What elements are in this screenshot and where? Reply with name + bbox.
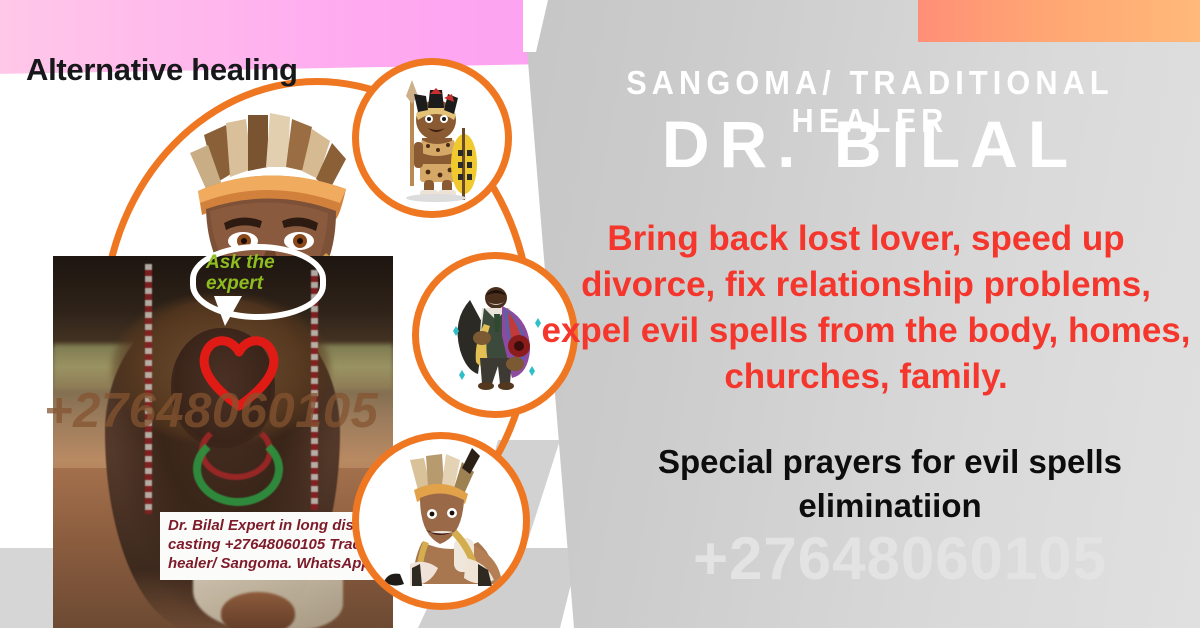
photo-necklace-green [193, 432, 283, 506]
speech-bubble-label: Ask the expert [206, 252, 314, 294]
badge-zulu-warrior-cartoon [352, 58, 512, 218]
caption-line-3: healer/ Sangoma. WhatsApp n [168, 554, 384, 573]
poster-canvas: Alternative healing [0, 0, 1200, 628]
photo-pot [221, 592, 295, 628]
healer-name: DR. BILAL [560, 108, 1180, 180]
services-text: Bring back lost lover, speed up divorce,… [536, 216, 1196, 400]
subheading-text: Special prayers for evil spells eliminat… [580, 440, 1200, 528]
caption-line-2: casting +27648060105 Tradih [168, 535, 384, 554]
page-title: Alternative healing [26, 52, 298, 88]
orange-gradient-bar [918, 0, 1200, 42]
badge-crouching-warrior [352, 432, 530, 610]
panel-phone-watermark: +27648060105 [600, 524, 1200, 593]
photo-phone-watermark: +27648060105 [44, 383, 378, 439]
